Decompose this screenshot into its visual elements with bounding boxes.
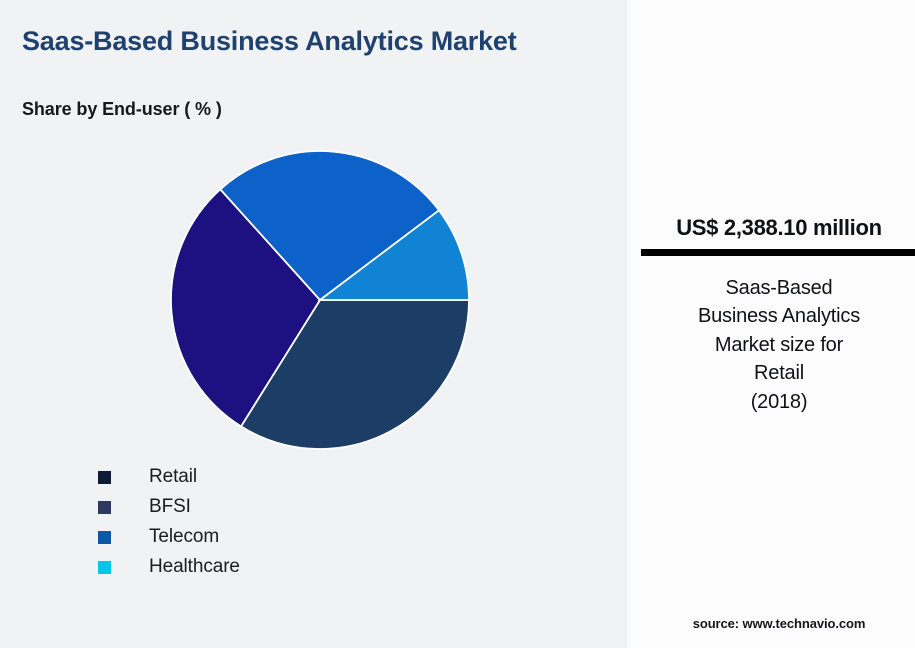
kpi-caption-line: Market size for — [715, 334, 843, 356]
chart-subtitle: Share by End-user ( % ) — [22, 99, 222, 120]
legend-label-retail: Retail — [149, 466, 197, 488]
chart-legend: Retail BFSI Telecom Healthcare — [98, 462, 518, 582]
pie-chart — [170, 150, 470, 450]
legend-item-retail[interactable]: Retail — [98, 462, 518, 492]
pie-chart-svg — [170, 150, 470, 450]
kpi-caption-line: Retail — [754, 362, 804, 384]
legend-swatch-bfsi — [98, 501, 111, 514]
legend-label-healthcare: Healthcare — [149, 556, 240, 578]
kpi-panel: US$ 2,388.10 million Saas-BasedBusiness … — [625, 0, 915, 648]
legend-swatch-retail — [98, 471, 111, 484]
kpi-value: US$ 2,388.10 million — [641, 215, 915, 241]
source-note: source: www.technavio.com — [647, 616, 911, 631]
infographic-canvas: Saas-Based Business Analytics Market Sha… — [0, 0, 915, 648]
kpi-caption-line: Business Analytics — [698, 305, 860, 327]
legend-label-bfsi: BFSI — [149, 496, 191, 518]
legend-item-bfsi[interactable]: BFSI — [98, 492, 518, 522]
legend-label-telecom: Telecom — [149, 526, 219, 548]
legend-swatch-healthcare — [98, 561, 111, 574]
kpi-caption-line: Saas-Based — [726, 277, 833, 299]
kpi-caption-line: (2018) — [751, 391, 808, 413]
page-title: Saas-Based Business Analytics Market — [22, 26, 552, 57]
kpi-caption: Saas-BasedBusiness AnalyticsMarket size … — [647, 274, 911, 416]
legend-swatch-telecom — [98, 531, 111, 544]
kpi-divider-rule — [641, 249, 915, 256]
legend-item-healthcare[interactable]: Healthcare — [98, 552, 518, 582]
legend-item-telecom[interactable]: Telecom — [98, 522, 518, 552]
chart-panel: Saas-Based Business Analytics Market Sha… — [0, 0, 625, 648]
